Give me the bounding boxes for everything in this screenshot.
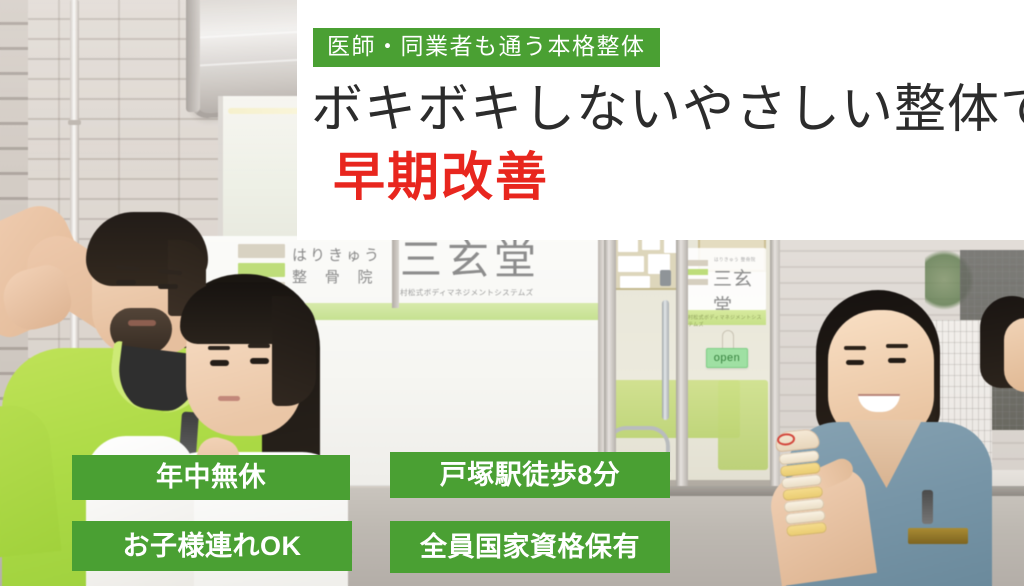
patient-eye — [210, 360, 229, 366]
waiting-bench-secondary — [718, 380, 768, 470]
patient-brow — [248, 344, 270, 348]
patient-eye — [250, 358, 269, 364]
door-logo-decal: はりきゅう 整骨院 三玄堂 — [682, 248, 766, 310]
patient-hair-side — [272, 296, 316, 406]
door-handle — [662, 300, 669, 420]
headline-panel: 医師・同業者も通う本格整体 ボキボキしないやさしい整体で 早期改善 — [297, 0, 1024, 240]
sign-divider — [392, 238, 399, 308]
open-sign-hanger — [722, 330, 734, 350]
headline-kicker-badge: 医師・同業者も通う本格整体 — [313, 28, 660, 67]
practitioner-mouth — [128, 320, 156, 326]
practitioner-eye — [158, 284, 178, 289]
feature-badge-station-walk: 戸塚駅徒歩8分 — [390, 452, 670, 498]
door-decal-tagline: 村松式ボディマネジメントシステムズ — [688, 314, 766, 328]
open-sign: open — [706, 348, 748, 368]
door-decal-strip: 村松式ボディマネジメントシステムズ — [682, 310, 766, 325]
headline-main-text: ボキボキしないやさしい整体で — [311, 82, 1024, 139]
sign-clinic-name-block: 三玄堂 村松式ボディマネジメントシステムズ — [400, 240, 548, 298]
practitioner-eye — [116, 280, 136, 285]
feature-badge-licensed-staff: 全員国家資格保有 — [390, 521, 670, 573]
therapist-brow — [886, 344, 908, 348]
awning-edge — [186, 0, 200, 112]
feature-badge-children-ok: お子様連れOK — [72, 521, 352, 571]
headline-accent-text: 早期改善 — [333, 150, 549, 207]
feature-badge-open-year-round: 年中無休 — [72, 455, 350, 500]
drainpipe-band — [68, 120, 81, 125]
therapist-eye — [846, 360, 864, 365]
sign-clinic-tagline: 村松式ボディマネジメントシステムズ — [400, 287, 548, 298]
hero-banner: はりきゅう 整 骨 院 三玄堂 村松式ボディマネジメントシステムズ — [0, 0, 1024, 586]
sign-clinic-name: 三玄堂 — [400, 240, 548, 282]
therapist-pocket-pen — [922, 490, 933, 524]
therapist-eye — [888, 358, 906, 363]
therapist-brow — [844, 346, 866, 350]
therapist-name-tag — [908, 528, 968, 544]
patient-brow — [208, 346, 230, 350]
door-logo-mark — [688, 260, 708, 286]
door-decal-subbrand: はりきゅう 整骨院 — [714, 257, 756, 263]
patient-mouth — [218, 396, 240, 401]
door-lock — [660, 270, 671, 286]
person-far-right-face — [1004, 318, 1024, 392]
